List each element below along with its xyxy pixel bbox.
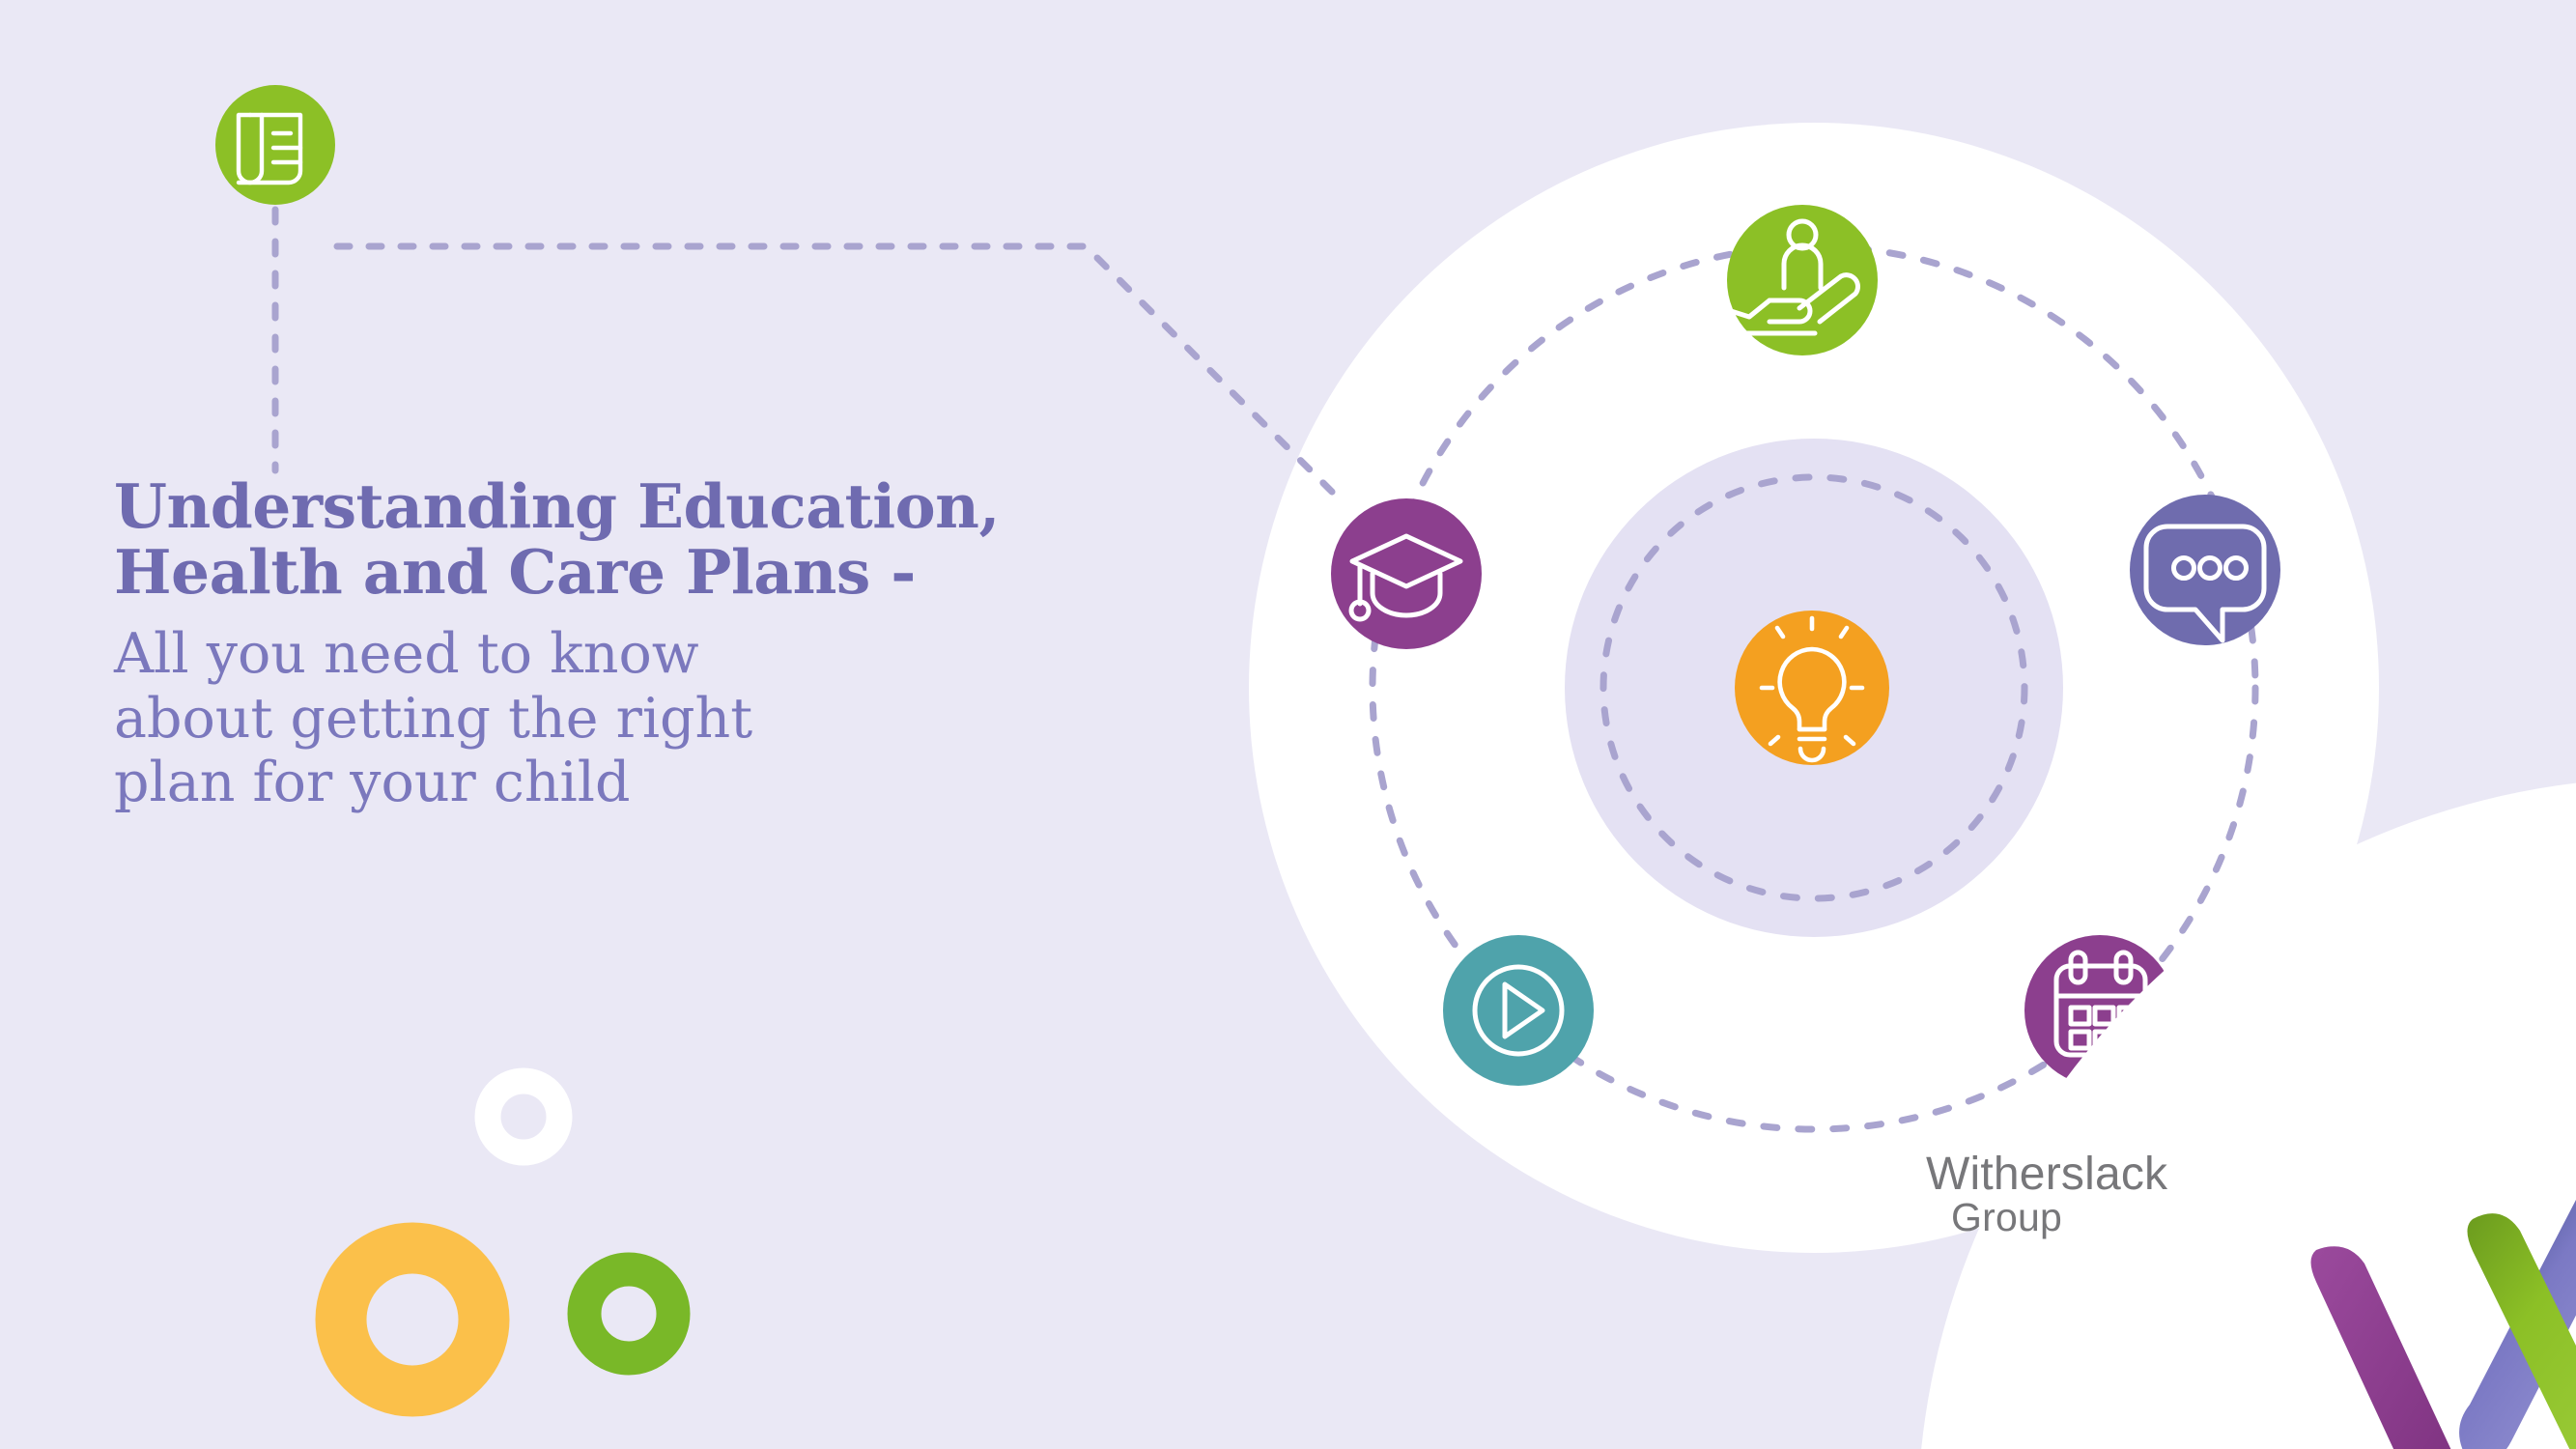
node-education-circle xyxy=(1331,498,1482,649)
poster-canvas: Understanding Education, Health and Care… xyxy=(0,0,2576,1449)
decor-rings xyxy=(341,1081,673,1391)
ring-green xyxy=(584,1269,673,1358)
logo-name-line2: Group xyxy=(1951,1195,2062,1240)
node-advice[interactable] xyxy=(2130,495,2280,645)
node-video-circle xyxy=(1443,935,1594,1086)
headline-block: Understanding Education, Health and Care… xyxy=(114,473,1196,815)
ring-amber xyxy=(341,1248,484,1391)
node-article-circle xyxy=(215,85,335,205)
page-subtitle: All you need to know about getting the r… xyxy=(114,622,1196,815)
node-video[interactable] xyxy=(1443,935,1594,1086)
node-education[interactable] xyxy=(1331,498,1482,649)
callout-connector-horizontal xyxy=(337,246,1343,502)
node-article[interactable] xyxy=(215,85,335,205)
node-lightbulb[interactable] xyxy=(1735,611,1889,765)
logo-name-line1: Witherslack xyxy=(1926,1148,2167,1201)
ring-white xyxy=(488,1081,559,1152)
node-lightbulb-circle xyxy=(1735,611,1889,765)
page-title: Understanding Education, Health and Care… xyxy=(114,473,1196,605)
